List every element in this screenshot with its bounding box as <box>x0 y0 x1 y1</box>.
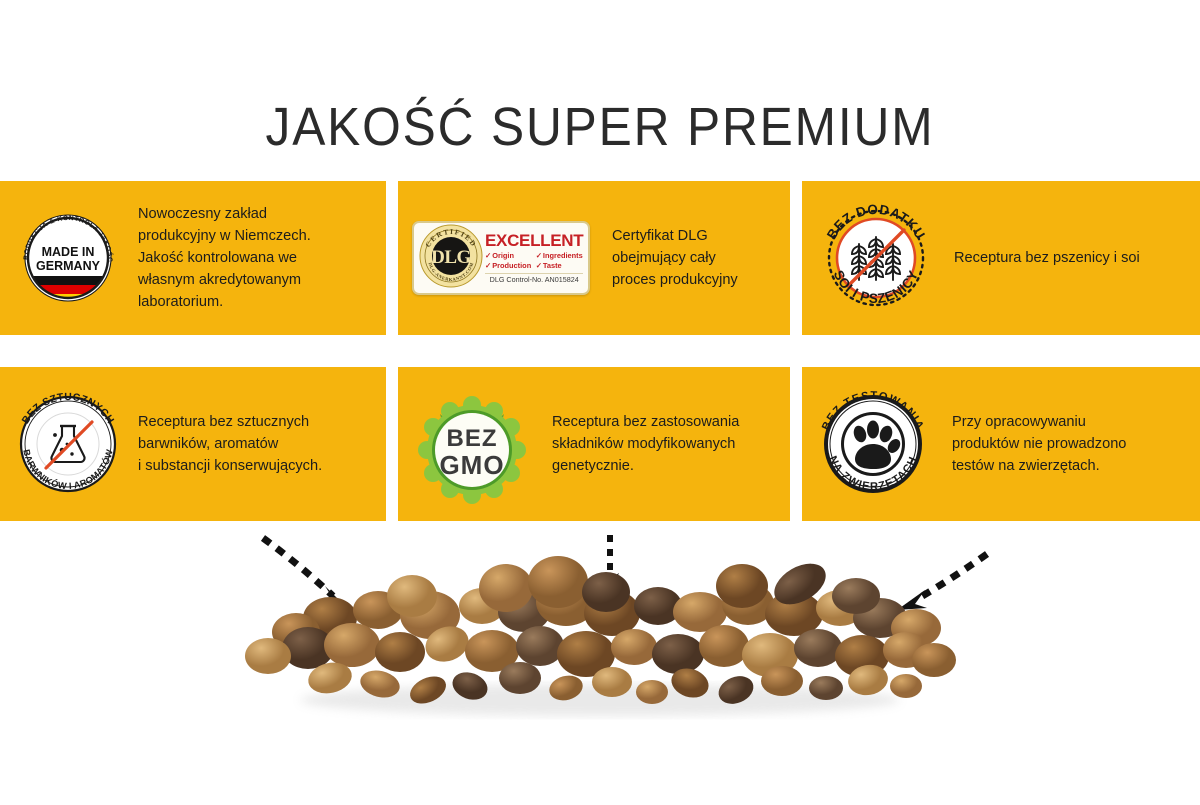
panel-dlg-certificate[interactable]: CERTIFIED DLG-ANERKANNT.COM DLG EXCELLEN… <box>398 181 790 335</box>
no-artificial-colors-icon: BEZ SZTUCZNYCH BARWNIKÓW I AROMATÓW <box>10 386 126 502</box>
panel-text-no-gmo: Receptura bez zastosowania składników mo… <box>540 411 739 478</box>
panel-made-in-germany[interactable]: PRODUKCJA & KONTROLA JAKOŚCI MADE IN GER… <box>0 181 386 335</box>
panel-text-made-in-germany: Nowoczesny zakład produkcyjny w Niemczec… <box>130 203 311 314</box>
dlg-text-block: EXCELLENT ✓Origin ✓Ingredients ✓Producti… <box>483 232 583 284</box>
feature-grid: PRODUKCJA & KONTROLA JAKOŚCI MADE IN GER… <box>0 181 1200 553</box>
panel-no-soy-wheat[interactable]: BEZ DODATKU SOI I PSZENICY Receptura bez… <box>802 181 1200 335</box>
gmo-free-seal-slot: BEZ GMO <box>404 382 540 506</box>
dlg-control-number: DLG Control-No. AN015824 <box>485 273 583 284</box>
no-wheat-soy-seal-slot: BEZ DODATKU SOI I PSZENICY <box>808 194 944 322</box>
dlg-check-taste: ✓Taste <box>536 261 584 271</box>
panel-no-gmo[interactable]: BEZ GMO Receptura bez zastosowania skład… <box>398 367 790 521</box>
page-title: JAKOŚĆ SUPER PREMIUM <box>48 96 1152 158</box>
no-artificial-seal-slot: BEZ SZTUCZNYCH BARWNIKÓW I AROMATÓW <box>6 386 130 502</box>
svg-text:GMO: GMO <box>439 450 504 480</box>
svg-text:DLG: DLG <box>431 247 471 268</box>
dlg-check-list: ✓Origin ✓Ingredients ✓Production ✓Taste <box>485 251 583 271</box>
check-icon: ✓ <box>485 261 491 270</box>
kibble-mid-row <box>245 621 956 677</box>
no-animal-testing-seal-slot: BEZ TESTOWANIA NA ZWIERZĘTACH <box>808 384 938 504</box>
dlg-certificate-icon: CERTIFIED DLG-ANERKANNT.COM DLG EXCELLEN… <box>412 221 590 295</box>
feature-row-2: BEZ SZTUCZNYCH BARWNIKÓW I AROMATÓW Rece… <box>0 367 1200 521</box>
dlg-certificate-slot: CERTIFIED DLG-ANERKANNT.COM DLG EXCELLEN… <box>404 221 598 295</box>
panel-no-animal-testing[interactable]: BEZ TESTOWANIA NA ZWIERZĘTACH Przy oprac… <box>802 367 1200 521</box>
check-icon: ✓ <box>485 251 491 260</box>
panel-text-dlg: Certyfikat DLG obejmujący cały proces pr… <box>598 225 738 292</box>
dlg-medal-icon: CERTIFIED DLG-ANERKANNT.COM DLG <box>419 224 483 293</box>
dlg-check-origin: ✓Origin <box>485 251 533 261</box>
panel-no-artificial-colors[interactable]: BEZ SZTUCZNYCH BARWNIKÓW I AROMATÓW Rece… <box>0 367 386 521</box>
panel-text-no-soy-wheat: Receptura bez pszenicy i soi <box>944 247 1140 269</box>
arrow-right-icon <box>875 548 995 626</box>
kibble-front-row <box>305 659 922 709</box>
made-in-germany-icon: PRODUKCJA & KONTROLA JAKOŚCI MADE IN GER… <box>12 202 124 314</box>
panel-text-no-artificial-colors: Receptura bez sztucznych barwników, arom… <box>130 411 322 478</box>
svg-text:BEZ: BEZ <box>447 425 498 452</box>
gmo-free-icon: BEZ GMO <box>410 382 534 506</box>
made-in-germany-seal-slot: PRODUKCJA & KONTROLA JAKOŚCI MADE IN GER… <box>6 202 130 314</box>
svg-text:MADE IN: MADE IN <box>42 245 95 259</box>
no-wheat-soy-icon: BEZ DODATKU SOI I PSZENICY <box>812 194 940 322</box>
panel-text-no-animal-testing: Przy opracowywaniu produktów nie prowadz… <box>938 411 1126 478</box>
dlg-check-ingredients: ✓Ingredients <box>536 251 584 261</box>
kibble-top-cluster <box>387 555 880 617</box>
check-icon: ✓ <box>536 251 542 260</box>
dlg-headline: EXCELLENT <box>485 232 583 250</box>
feature-row-1: PRODUKCJA & KONTROLA JAKOŚCI MADE IN GER… <box>0 181 1200 335</box>
arrow-center-icon <box>597 533 633 601</box>
no-animal-testing-icon: BEZ TESTOWANIA NA ZWIERZĘTACH <box>813 384 933 504</box>
dlg-check-production: ✓Production <box>485 261 533 271</box>
check-icon: ✓ <box>536 261 542 270</box>
arrow-left-icon <box>255 530 375 620</box>
svg-text:GERMANY: GERMANY <box>36 259 101 273</box>
